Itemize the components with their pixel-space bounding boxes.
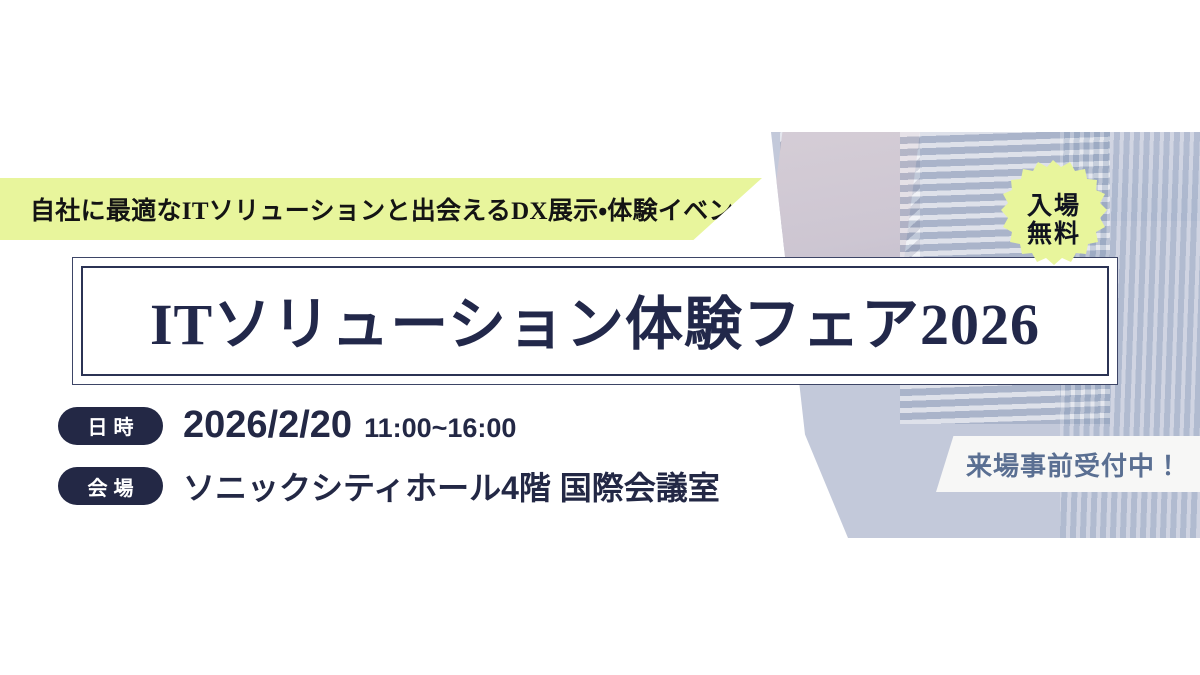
catch-copy-text: 自社に最適なITソリューションと出会えるDX展示・体験イベント xyxy=(30,191,759,227)
pre-registration-text: 来場事前受付中！ xyxy=(966,446,1182,483)
banner-canvas: 自社に最適なITソリューションと出会えるDX展示・体験イベント 入場 無料 IT… xyxy=(0,0,1200,675)
info-label-date: 日時 xyxy=(58,407,163,445)
catch-copy-banner: 自社に最適なITソリューションと出会えるDX展示・体験イベント xyxy=(0,178,762,240)
free-admission-badge: 入場 無料 xyxy=(997,158,1109,282)
free-admission-line2: 無料 xyxy=(1025,221,1081,248)
free-admission-line1: 入場 xyxy=(1025,193,1081,220)
event-venue: ソニックシティホール4階 国際会議室 xyxy=(183,463,720,509)
event-title-frame: ITソリューション体験フェア2026 xyxy=(72,257,1118,385)
free-admission-label: 入場 無料 xyxy=(997,158,1109,282)
event-date: 2026/2/20 xyxy=(183,404,352,447)
info-row-venue: 会場 ソニックシティホール4階 国際会議室 xyxy=(58,463,720,509)
info-row-date: 日時 2026/2/20 11:00~16:00 xyxy=(58,404,720,447)
info-value-venue: ソニックシティホール4階 国際会議室 xyxy=(183,463,720,509)
info-value-date: 2026/2/20 11:00~16:00 xyxy=(183,404,516,447)
event-title: ITソリューション体験フェア2026 xyxy=(150,277,1040,361)
event-title-frame-inner: ITソリューション体験フェア2026 xyxy=(81,266,1109,376)
pre-registration-ribbon: 来場事前受付中！ xyxy=(936,436,1200,492)
info-label-venue: 会場 xyxy=(58,467,163,505)
event-info-block: 日時 2026/2/20 11:00~16:00 会場 ソニックシティホール4階… xyxy=(58,404,720,525)
event-time: 11:00~16:00 xyxy=(364,413,516,444)
